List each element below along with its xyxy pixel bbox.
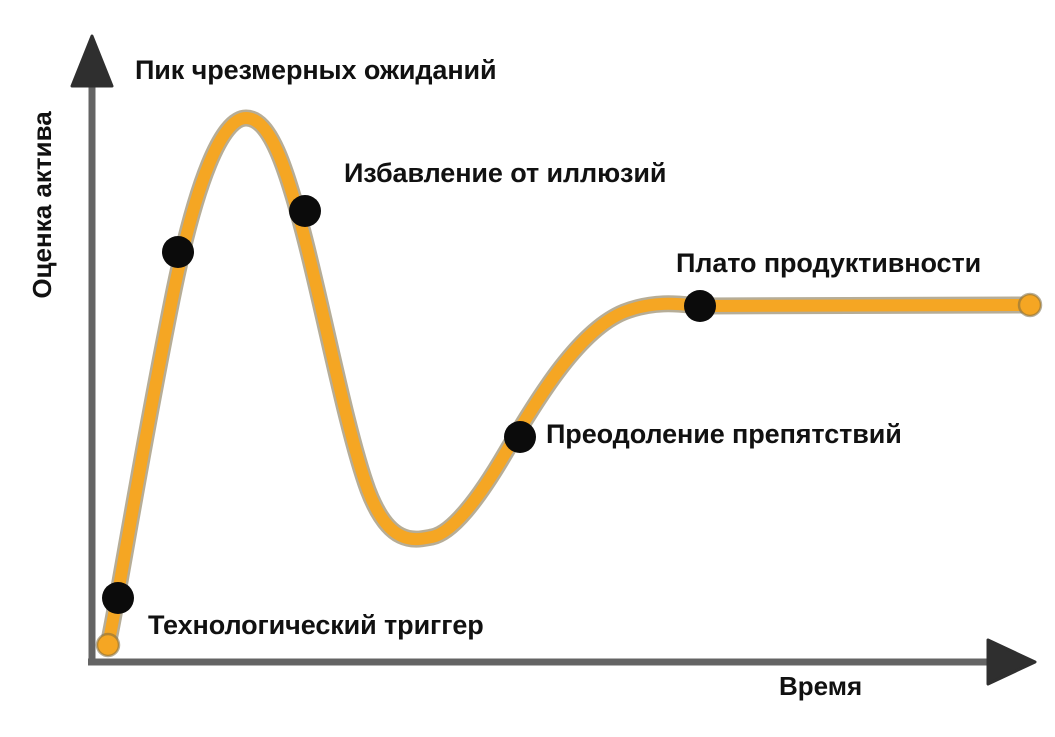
x-axis-arrow-icon <box>988 640 1035 684</box>
curve-start-cap <box>97 634 119 656</box>
curve-end-cap <box>1019 294 1041 316</box>
annotation-trough-of-disillusionment: Избавление от иллюзий <box>344 160 666 187</box>
marker-plateau-of-productivity[interactable] <box>684 290 716 322</box>
hype-curve-group <box>97 118 1041 656</box>
y-axis-arrow-icon <box>72 36 112 86</box>
hype-curve <box>108 118 1030 645</box>
annotation-plateau-of-productivity: Плато продуктивности <box>676 250 981 277</box>
x-axis-title: Время <box>779 673 862 699</box>
marker-peak-of-inflated-expectations[interactable] <box>162 236 194 268</box>
marker-technology-trigger[interactable] <box>102 582 134 614</box>
annotation-technology-trigger: Технологический триггер <box>148 612 484 639</box>
annotation-slope-of-enlightenment: Преодоление препятствий <box>546 421 902 448</box>
y-axis-title: Оценка актива <box>29 111 55 298</box>
annotation-peak-of-inflated-expectations: Пик чрезмерных ожиданий <box>135 57 497 84</box>
marker-slope-of-enlightenment[interactable] <box>504 421 536 453</box>
hype-cycle-chart: Пик чрезмерных ожиданий Избавление от ил… <box>0 0 1055 737</box>
marker-trough-of-disillusionment[interactable] <box>289 195 321 227</box>
hype-curve-outline <box>108 118 1030 645</box>
phase-markers-group <box>102 195 716 614</box>
